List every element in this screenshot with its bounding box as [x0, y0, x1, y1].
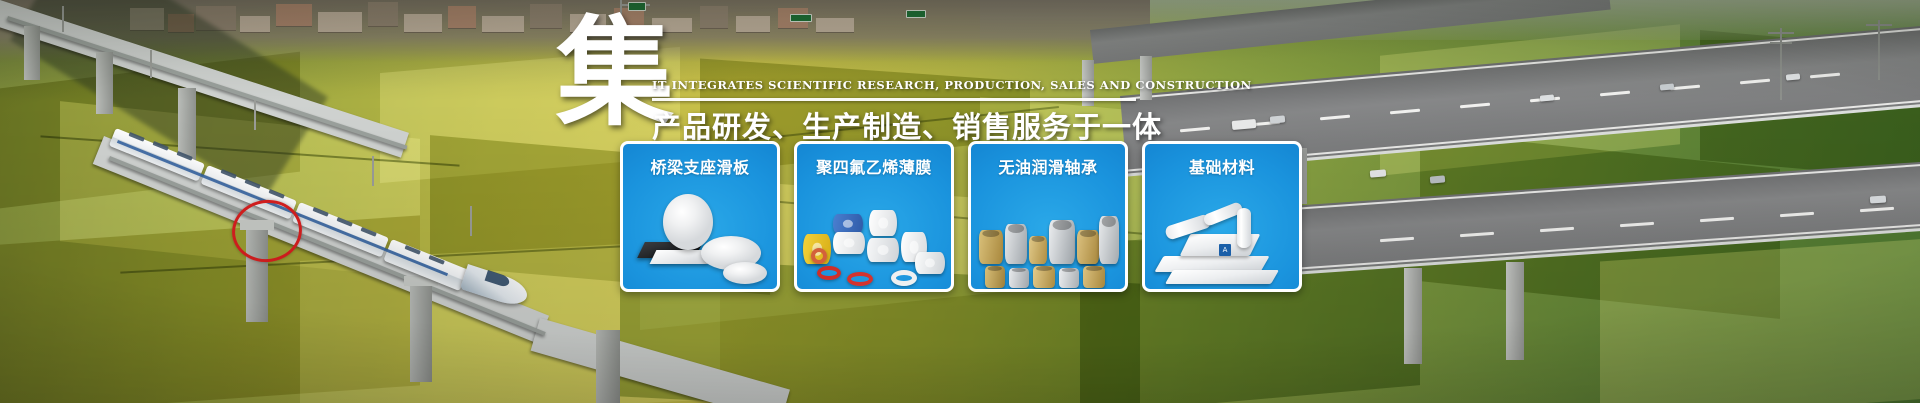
utility-pole: [1878, 20, 1880, 80]
vehicle-car: [1540, 94, 1554, 101]
ptfe-film-rolls-icon: [797, 186, 951, 289]
vehicle-car: [1430, 175, 1446, 183]
bronze-bushing: [1029, 236, 1047, 264]
road-sign: [906, 10, 926, 18]
base-material-blocks-icon: A: [1145, 186, 1299, 289]
house: [318, 12, 362, 32]
chinese-subtitle: 产品研发、生产制造、销售服务于一体: [652, 104, 1162, 146]
bronze-bushing-small: [1083, 266, 1105, 288]
english-tagline: IT INTEGRATES SCIENTIFIC RESEARCH, PRODU…: [652, 78, 1136, 92]
card-title: 基础材料: [1145, 154, 1299, 178]
steel-bushing-small: [1059, 268, 1079, 288]
white-sheet: [1165, 270, 1279, 284]
steel-bushing: [1005, 224, 1027, 264]
utility-pole: [1780, 28, 1782, 100]
steel-bushing-large: [1049, 220, 1075, 264]
product-card-oilless-bearing[interactable]: 无油润滑轴承: [968, 141, 1128, 292]
product-tag: A: [1219, 244, 1231, 256]
white-film-roll: [833, 232, 865, 254]
steel-bushing-small: [1009, 268, 1029, 288]
white-film-roll: [869, 210, 897, 236]
house: [482, 16, 524, 32]
house: [368, 2, 398, 26]
product-card-base-material[interactable]: 基础材料 A: [1142, 141, 1302, 292]
bronze-bushing-small: [985, 266, 1005, 288]
catenary-pole: [150, 50, 152, 78]
headline-block: 集 IT INTEGRATES SCIENTIFIC RESEARCH, PRO…: [556, 18, 1156, 138]
vehicle-car: [1370, 169, 1387, 177]
ptfe-disc-small: [723, 262, 767, 284]
catenary-pole: [62, 6, 64, 32]
white-film-roll: [867, 238, 899, 262]
house: [276, 4, 312, 26]
utility-pole-arm: [1768, 32, 1794, 34]
card-title: 桥梁支座滑板: [623, 154, 777, 178]
bronze-bushing: [979, 230, 1003, 264]
viaduct-pier: [410, 282, 432, 382]
field-parcel: [1600, 238, 1920, 403]
bridge-bearing-slide-plate-icon: [623, 186, 777, 289]
house: [404, 14, 442, 32]
viaduct-pier: [96, 52, 113, 114]
product-card-bridge-bearing[interactable]: 桥梁支座滑板: [620, 141, 780, 292]
viaduct-pier: [596, 330, 620, 403]
house: [240, 16, 270, 32]
red-seal-ring: [847, 272, 873, 286]
steel-sleeve: [1099, 216, 1119, 264]
oil-free-bearing-bushings-icon: [971, 186, 1125, 289]
large-ptfe-disc: [663, 194, 713, 250]
card-title: 聚四氟乙烯薄膜: [797, 154, 951, 178]
vehicle-car: [1660, 83, 1674, 90]
viaduct-pier: [24, 26, 40, 80]
white-washer: [891, 270, 917, 286]
highway-column: [1404, 268, 1422, 364]
white-bushing: [915, 252, 945, 274]
vehicle-car: [1270, 115, 1286, 123]
utility-pole-arm: [1866, 24, 1892, 26]
headline-divider: [652, 98, 1136, 101]
orange-seal-ring: [811, 248, 827, 264]
utility-pole-arm: [1770, 42, 1792, 44]
ptfe-rod-vertical: [1237, 208, 1251, 248]
catenary-pole: [254, 100, 256, 130]
card-title: 无油润滑轴承: [971, 154, 1125, 178]
house: [448, 6, 476, 28]
high-speed-train: [116, 128, 576, 278]
product-card-ptfe-film[interactable]: 聚四氟乙烯薄膜: [794, 141, 954, 292]
vehicle-car: [1870, 195, 1886, 203]
hero-banner: 集 IT INTEGRATES SCIENTIFIC RESEARCH, PRO…: [0, 0, 1920, 403]
highway-column: [1506, 262, 1524, 360]
red-seal-ring: [817, 266, 841, 280]
product-card-list: 桥梁支座滑板 聚四氟乙烯薄膜: [620, 141, 1302, 292]
vehicle-car: [1786, 73, 1800, 80]
bronze-bushing-small: [1033, 266, 1055, 288]
blue-film-roll: [833, 214, 863, 234]
bronze-bushing: [1077, 230, 1099, 264]
